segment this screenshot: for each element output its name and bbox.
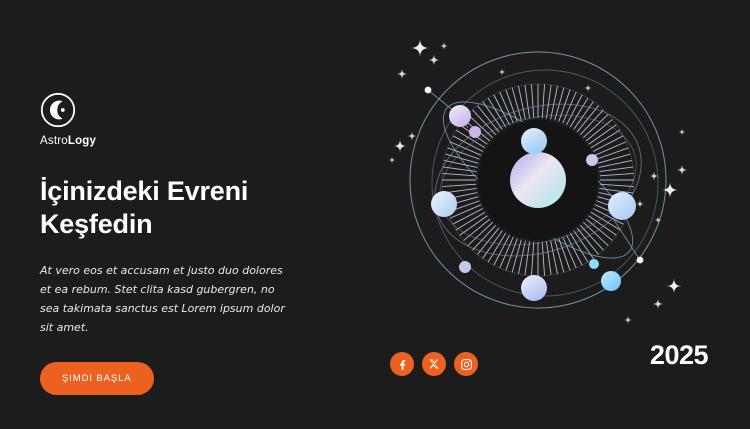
planet-top xyxy=(521,128,547,154)
start-now-button[interactable]: ŞIMDI BAŞLA xyxy=(40,362,154,395)
brand-name: AstroLogy xyxy=(40,135,96,147)
year-label: 2025 xyxy=(650,340,708,371)
x-twitter-link[interactable] xyxy=(422,352,446,376)
hero-paragraph: At vero eos et accusam et justo duo dolo… xyxy=(40,262,288,338)
hero-content: AstroLogy İçinizdeki Evreni Keşfedin At … xyxy=(40,92,340,395)
planet-bottom xyxy=(521,275,547,301)
brand-name-bold: Logy xyxy=(68,135,96,147)
planet-upper-left xyxy=(449,105,471,127)
planet-lower-right-small xyxy=(589,259,599,269)
planet-lower-right xyxy=(601,271,621,291)
social-links xyxy=(390,352,478,376)
facebook-icon xyxy=(396,358,409,371)
instagram-link[interactable] xyxy=(454,352,478,376)
brand-lockup[interactable]: AstroLogy xyxy=(40,92,340,147)
planet-bottom-left-small xyxy=(459,261,471,273)
hero-page: AstroLogy İçinizdeki Evreni Keşfedin At … xyxy=(0,0,750,429)
planet-upper-right-small xyxy=(586,154,598,166)
node-upper-left xyxy=(425,87,432,94)
node-lower-right xyxy=(637,257,644,264)
planet-left xyxy=(431,191,457,217)
planet-upper-left-small xyxy=(469,126,481,138)
instagram-icon xyxy=(460,358,473,371)
planet-right xyxy=(608,192,636,220)
planet-orbit-illustration xyxy=(382,28,702,328)
x-twitter-icon xyxy=(428,358,440,370)
brand-name-light: Astro xyxy=(40,135,68,147)
facebook-link[interactable] xyxy=(390,352,414,376)
page-title: İçinizdeki Evreni Keşfedin xyxy=(40,175,300,241)
crescent-moon-icon xyxy=(40,92,76,128)
